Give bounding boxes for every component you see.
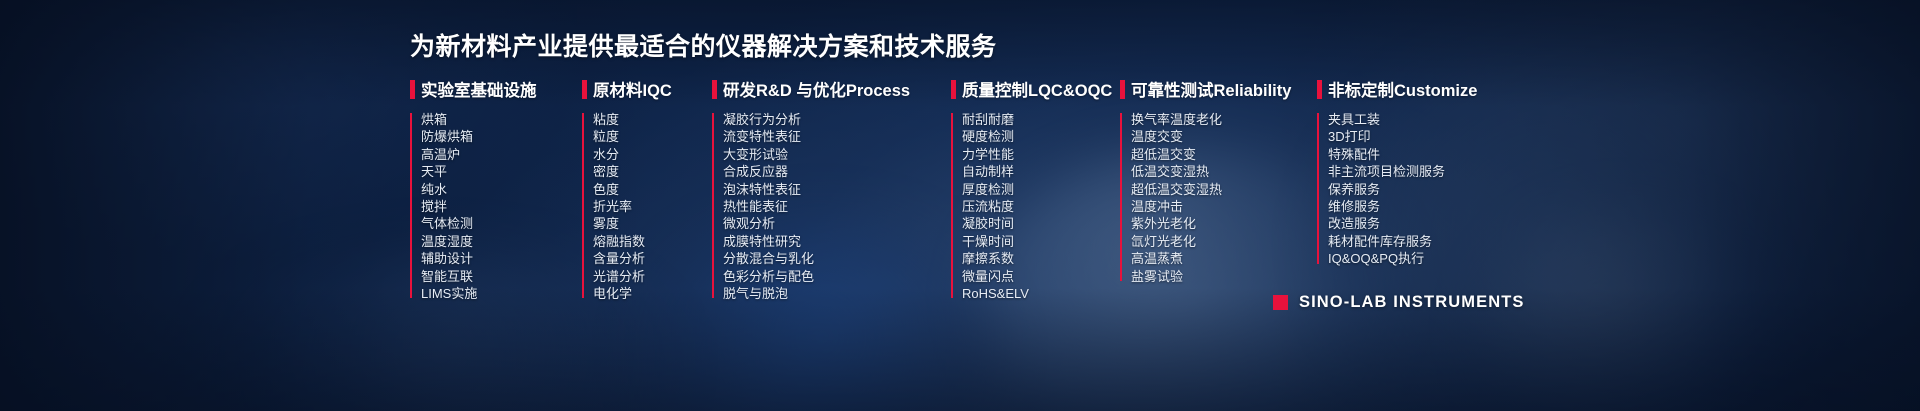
column-list: 夹具工装 3D打印 特殊配件 非主流项目检测服务 保养服务 维修服务 改造服务 … [1317, 111, 1517, 268]
accent-bar-icon [582, 80, 587, 99]
list-item[interactable]: IQ&OQ&PQ执行 [1328, 250, 1517, 267]
accent-bar-icon [1317, 80, 1322, 99]
column-header-label: 实验室基础设施 [421, 77, 537, 101]
brand-logo[interactable]: SINO-LAB INSTRUMENTS [1273, 293, 1525, 312]
category-columns: 实验室基础设施 烘箱 防爆烘箱 高温炉 天平 纯水 搅拌 气体检测 温度湿度 辅… [410, 78, 1517, 302]
category-column-lab-infrastructure: 实验室基础设施 烘箱 防爆烘箱 高温炉 天平 纯水 搅拌 气体检测 温度湿度 辅… [410, 78, 582, 302]
list-item[interactable]: 泡沫特性表征 [723, 181, 951, 198]
column-header: 质量控制LQC&OQC [951, 78, 1120, 100]
column-header: 可靠性测试Reliability [1120, 78, 1317, 100]
list-item[interactable]: 光谱分析 [593, 268, 712, 285]
list-item[interactable]: 低温交变湿热 [1131, 163, 1317, 180]
marketing-banner: 为新材料产业提供最适合的仪器解决方案和技术服务 实验室基础设施 烘箱 防爆烘箱 … [0, 0, 1920, 411]
accent-bar-icon [1120, 80, 1125, 99]
list-item[interactable]: 超低温交变湿热 [1131, 181, 1317, 198]
list-item[interactable]: 粒度 [593, 128, 712, 145]
list-item[interactable]: 烘箱 [421, 111, 582, 128]
list-item[interactable]: 干燥时间 [962, 233, 1120, 250]
category-column-quality-control: 质量控制LQC&OQC 耐刮耐磨 硬度检测 力学性能 自动制样 厚度检测 压流粘… [951, 78, 1120, 302]
banner-content: 为新材料产业提供最适合的仪器解决方案和技术服务 实验室基础设施 烘箱 防爆烘箱 … [0, 0, 1920, 411]
list-item[interactable]: 分散混合与乳化 [723, 250, 951, 267]
vertical-rule-icon [712, 113, 714, 298]
list-item[interactable]: 搅拌 [421, 198, 582, 215]
list-item[interactable]: 硬度检测 [962, 128, 1120, 145]
list-item[interactable]: 热性能表征 [723, 198, 951, 215]
list-item[interactable]: 气体检测 [421, 215, 582, 232]
list-item[interactable]: 熔融指数 [593, 233, 712, 250]
list-item[interactable]: 水分 [593, 146, 712, 163]
column-header: 原材料IQC [582, 78, 712, 100]
list-item[interactable]: 压流粘度 [962, 198, 1120, 215]
column-list: 凝胶行为分析 流变特性表征 大变形试验 合成反应器 泡沫特性表征 热性能表征 微… [712, 111, 951, 302]
column-header: 研发R&D 与优化Process [712, 78, 951, 100]
list-item[interactable]: 微量闪点 [962, 268, 1120, 285]
headline: 为新材料产业提供最适合的仪器解决方案和技术服务 [410, 27, 997, 63]
category-column-reliability: 可靠性测试Reliability 换气率温度老化 温度交变 超低温交变 低温交变… [1120, 78, 1317, 285]
accent-bar-icon [410, 80, 415, 99]
list-item[interactable]: 密度 [593, 163, 712, 180]
list-item[interactable]: 夹具工装 [1328, 111, 1517, 128]
list-item[interactable]: 防爆烘箱 [421, 128, 582, 145]
list-item[interactable]: 耐刮耐磨 [962, 111, 1120, 128]
category-column-rnd-process: 研发R&D 与优化Process 凝胶行为分析 流变特性表征 大变形试验 合成反… [712, 78, 951, 302]
list-item[interactable]: 纯水 [421, 181, 582, 198]
list-item[interactable]: 氙灯光老化 [1131, 233, 1317, 250]
brand-square-icon [1273, 295, 1288, 310]
list-item[interactable]: LIMS实施 [421, 285, 582, 302]
brand-name: SINO-LAB INSTRUMENTS [1299, 293, 1525, 312]
column-header-label: 非标定制Customize [1328, 77, 1477, 101]
list-item[interactable]: 耗材配件库存服务 [1328, 233, 1517, 250]
column-header-label: 质量控制LQC&OQC [962, 77, 1112, 101]
list-item[interactable]: 超低温交变 [1131, 146, 1317, 163]
list-item[interactable]: 凝胶时间 [962, 215, 1120, 232]
list-item[interactable]: 天平 [421, 163, 582, 180]
list-item[interactable]: 温度交变 [1131, 128, 1317, 145]
accent-bar-icon [712, 80, 717, 99]
list-item[interactable]: 特殊配件 [1328, 146, 1517, 163]
list-item[interactable]: 盐雾试验 [1131, 268, 1317, 285]
list-item[interactable]: 温度湿度 [421, 233, 582, 250]
list-item[interactable]: 脱气与脱泡 [723, 285, 951, 302]
list-item[interactable]: 保养服务 [1328, 181, 1517, 198]
column-list: 耐刮耐磨 硬度检测 力学性能 自动制样 厚度检测 压流粘度 凝胶时间 干燥时间 … [951, 111, 1120, 302]
list-item[interactable]: 雾度 [593, 215, 712, 232]
column-header-label: 可靠性测试Reliability [1131, 77, 1291, 101]
list-item[interactable]: 成膜特性研究 [723, 233, 951, 250]
list-item[interactable]: RoHS&ELV [962, 285, 1120, 302]
list-item[interactable]: 紫外光老化 [1131, 215, 1317, 232]
list-item[interactable]: 色彩分析与配色 [723, 268, 951, 285]
vertical-rule-icon [1317, 113, 1319, 264]
list-item[interactable]: 维修服务 [1328, 198, 1517, 215]
list-item[interactable]: 含量分析 [593, 250, 712, 267]
column-header: 实验室基础设施 [410, 78, 582, 100]
column-header-label: 研发R&D 与优化Process [723, 77, 910, 101]
list-item[interactable]: 折光率 [593, 198, 712, 215]
category-column-customize: 非标定制Customize 夹具工装 3D打印 特殊配件 非主流项目检测服务 保… [1317, 78, 1517, 268]
list-item[interactable]: 高温炉 [421, 146, 582, 163]
list-item[interactable]: 粘度 [593, 111, 712, 128]
column-header: 非标定制Customize [1317, 78, 1517, 100]
list-item[interactable]: 合成反应器 [723, 163, 951, 180]
vertical-rule-icon [410, 113, 412, 298]
list-item[interactable]: 电化学 [593, 285, 712, 302]
list-item[interactable]: 大变形试验 [723, 146, 951, 163]
category-column-raw-material-iqc: 原材料IQC 粘度 粒度 水分 密度 色度 折光率 雾度 熔融指数 含量分析 光 [582, 78, 712, 302]
vertical-rule-icon [951, 113, 953, 298]
column-header-label: 原材料IQC [593, 77, 672, 101]
list-item[interactable]: 摩擦系数 [962, 250, 1120, 267]
list-item[interactable]: 高温蒸煮 [1131, 250, 1317, 267]
vertical-rule-icon [1120, 113, 1122, 281]
column-list: 粘度 粒度 水分 密度 色度 折光率 雾度 熔融指数 含量分析 光谱分析 电化学 [582, 111, 712, 302]
list-item[interactable]: 微观分析 [723, 215, 951, 232]
list-item[interactable]: 自动制样 [962, 163, 1120, 180]
list-item[interactable]: 温度冲击 [1131, 198, 1317, 215]
vertical-rule-icon [582, 113, 584, 298]
list-item[interactable]: 改造服务 [1328, 215, 1517, 232]
list-item[interactable]: 流变特性表征 [723, 128, 951, 145]
list-item[interactable]: 厚度检测 [962, 181, 1120, 198]
list-item[interactable]: 辅助设计 [421, 250, 582, 267]
list-item[interactable]: 智能互联 [421, 268, 582, 285]
accent-bar-icon [951, 80, 956, 99]
list-item[interactable]: 非主流项目检测服务 [1328, 163, 1517, 180]
list-item[interactable]: 换气率温度老化 [1131, 111, 1317, 128]
list-item[interactable]: 3D打印 [1328, 128, 1517, 145]
column-list: 换气率温度老化 温度交变 超低温交变 低温交变湿热 超低温交变湿热 温度冲击 紫… [1120, 111, 1317, 285]
list-item[interactable]: 凝胶行为分析 [723, 111, 951, 128]
column-list: 烘箱 防爆烘箱 高温炉 天平 纯水 搅拌 气体检测 温度湿度 辅助设计 智能互联… [410, 111, 582, 302]
list-item[interactable]: 色度 [593, 181, 712, 198]
list-item[interactable]: 力学性能 [962, 146, 1120, 163]
